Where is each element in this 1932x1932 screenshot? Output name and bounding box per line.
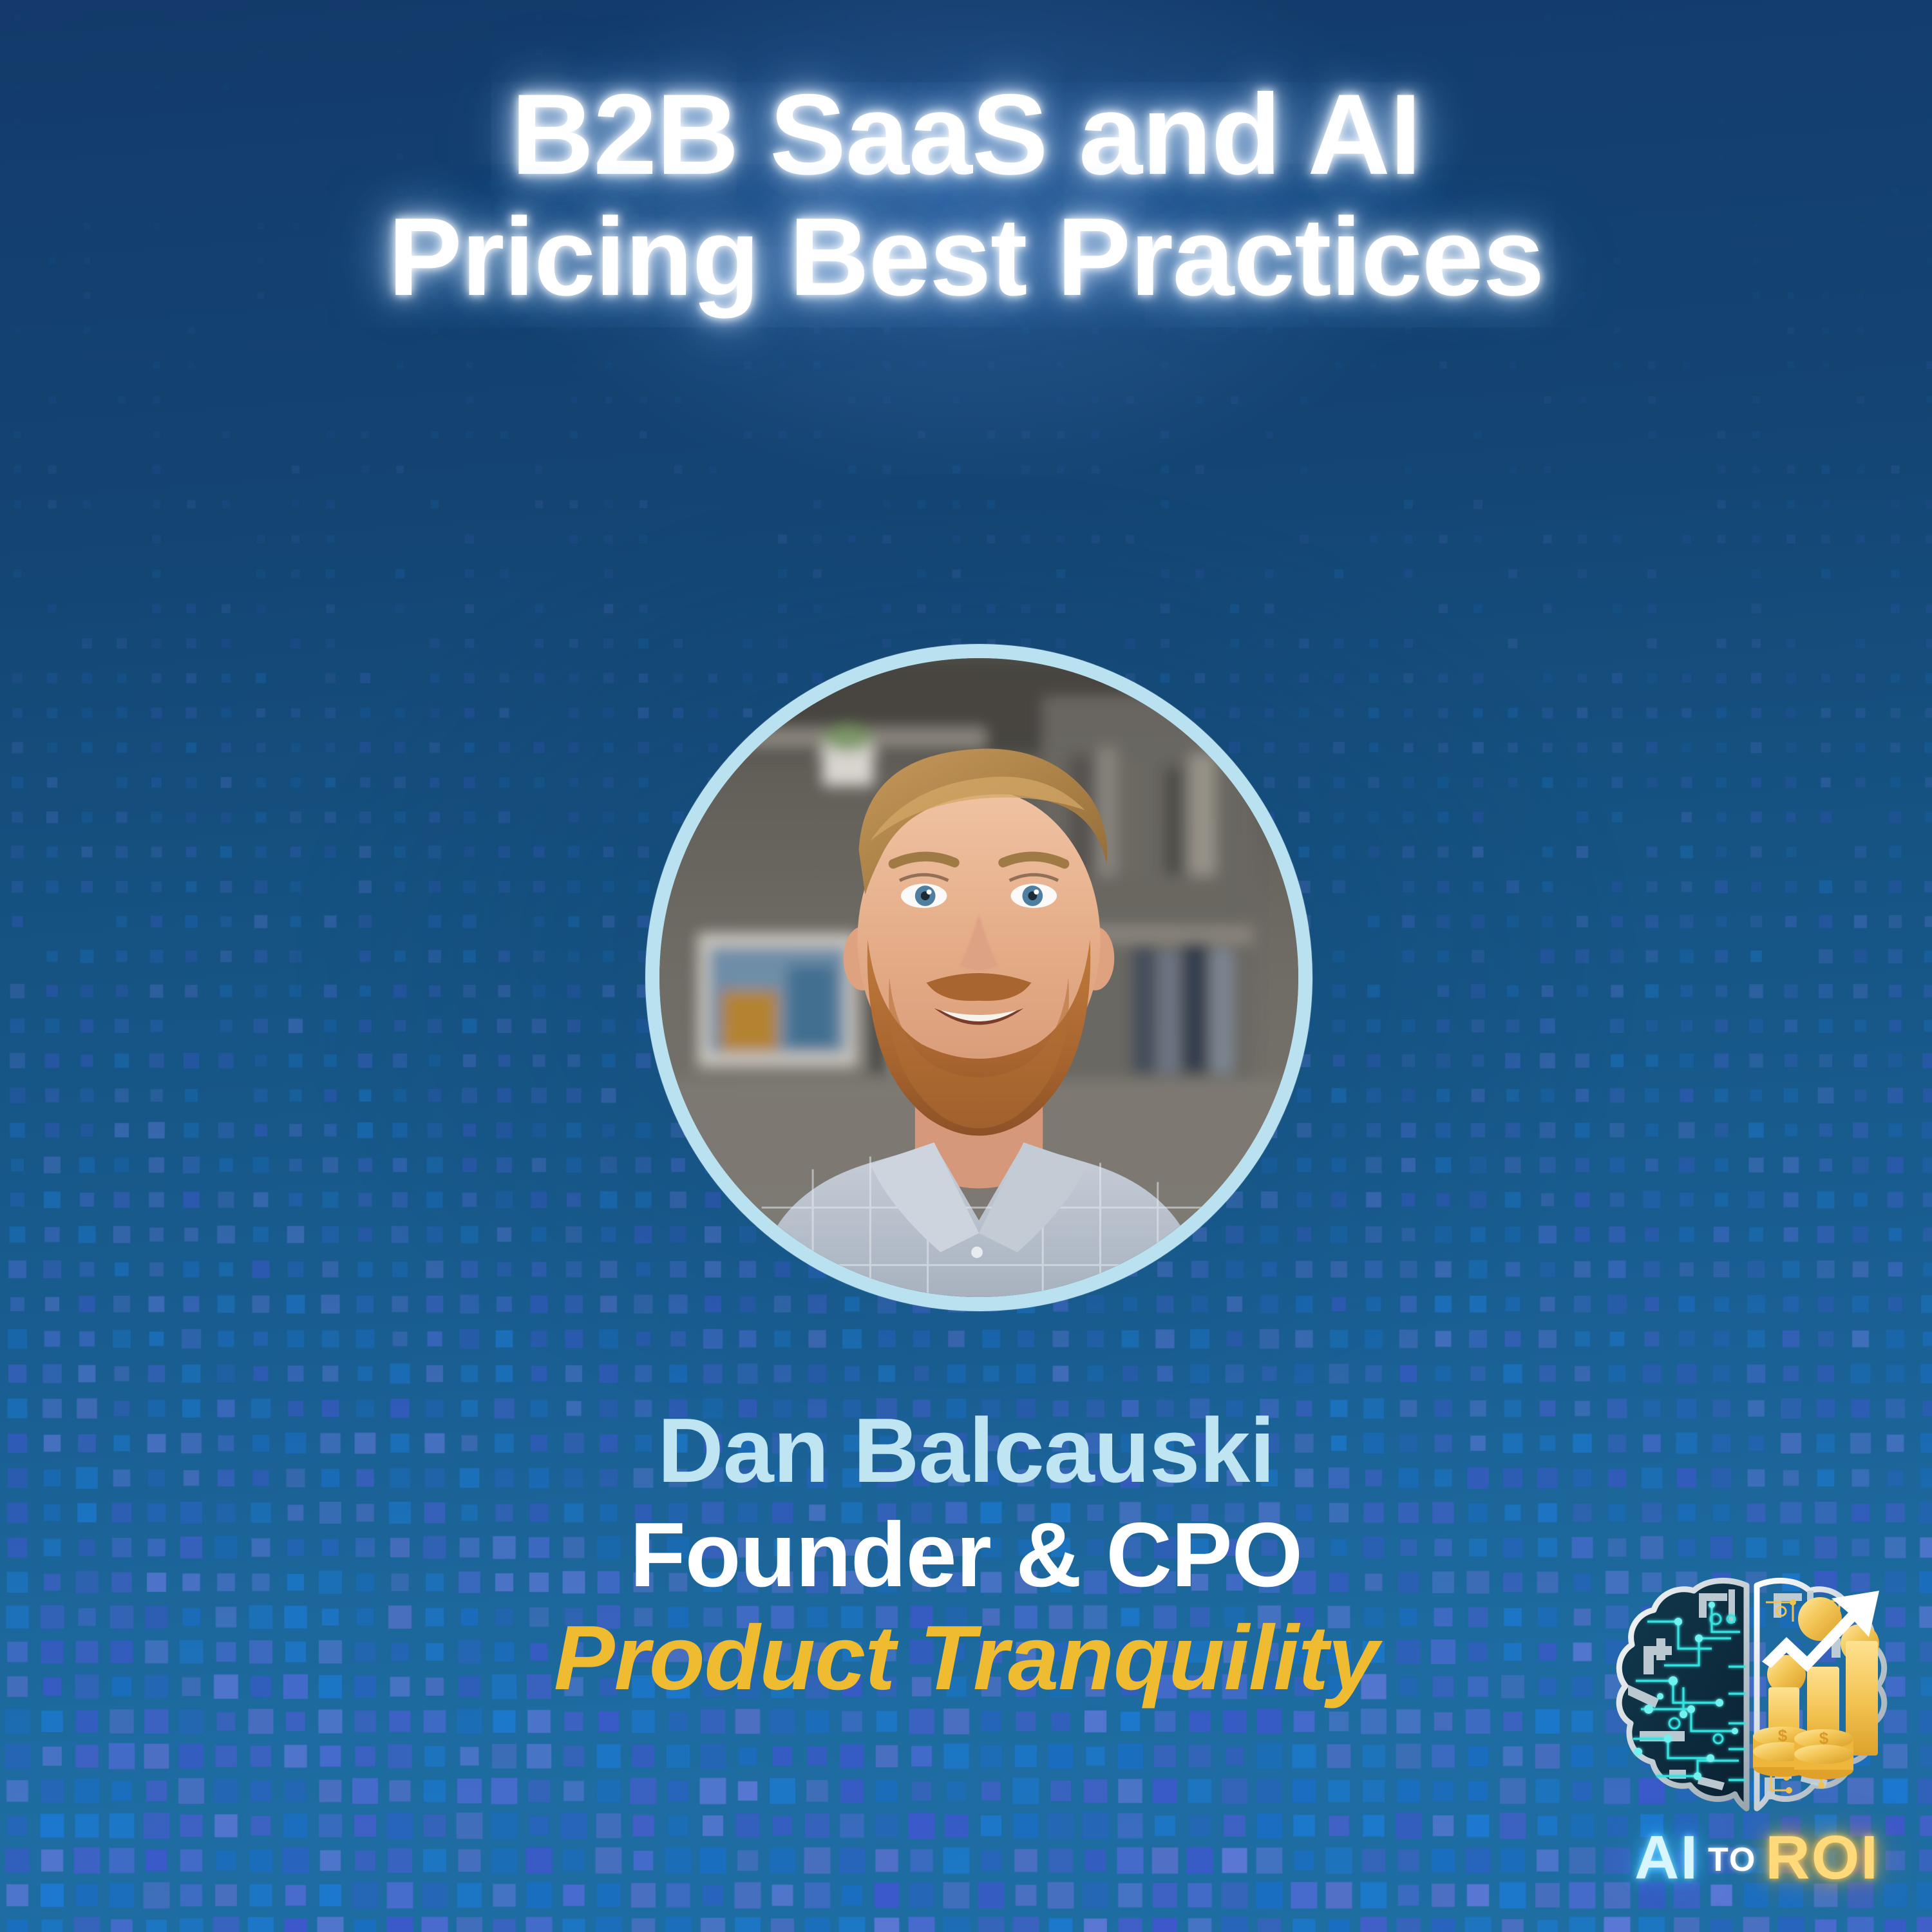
title-line-1: B2B SaaS and AI: [0, 76, 1932, 193]
logo-word-ai: AI: [1634, 1823, 1699, 1892]
logo-wordmark: AITOROI: [1596, 1823, 1918, 1893]
speaker-name: Dan Balcauski: [0, 1405, 1932, 1497]
speaker-portrait-avatar: [645, 644, 1312, 1311]
logo-word-to: TO: [1708, 1841, 1756, 1879]
slide-title: B2B SaaS and AI Pricing Best Practices: [0, 76, 1932, 314]
title-line-2: Pricing Best Practices: [0, 201, 1932, 314]
ai-to-roi-logo: $ $: [1596, 1577, 1918, 1924]
ai-brain-roi-chart-logo-icon: $ $: [1602, 1577, 1911, 1829]
logo-word-roi: ROI: [1765, 1823, 1879, 1892]
slide-canvas: B2B SaaS and AI Pricing Best Practices: [0, 0, 1932, 1932]
portrait-photo: [659, 658, 1298, 1297]
